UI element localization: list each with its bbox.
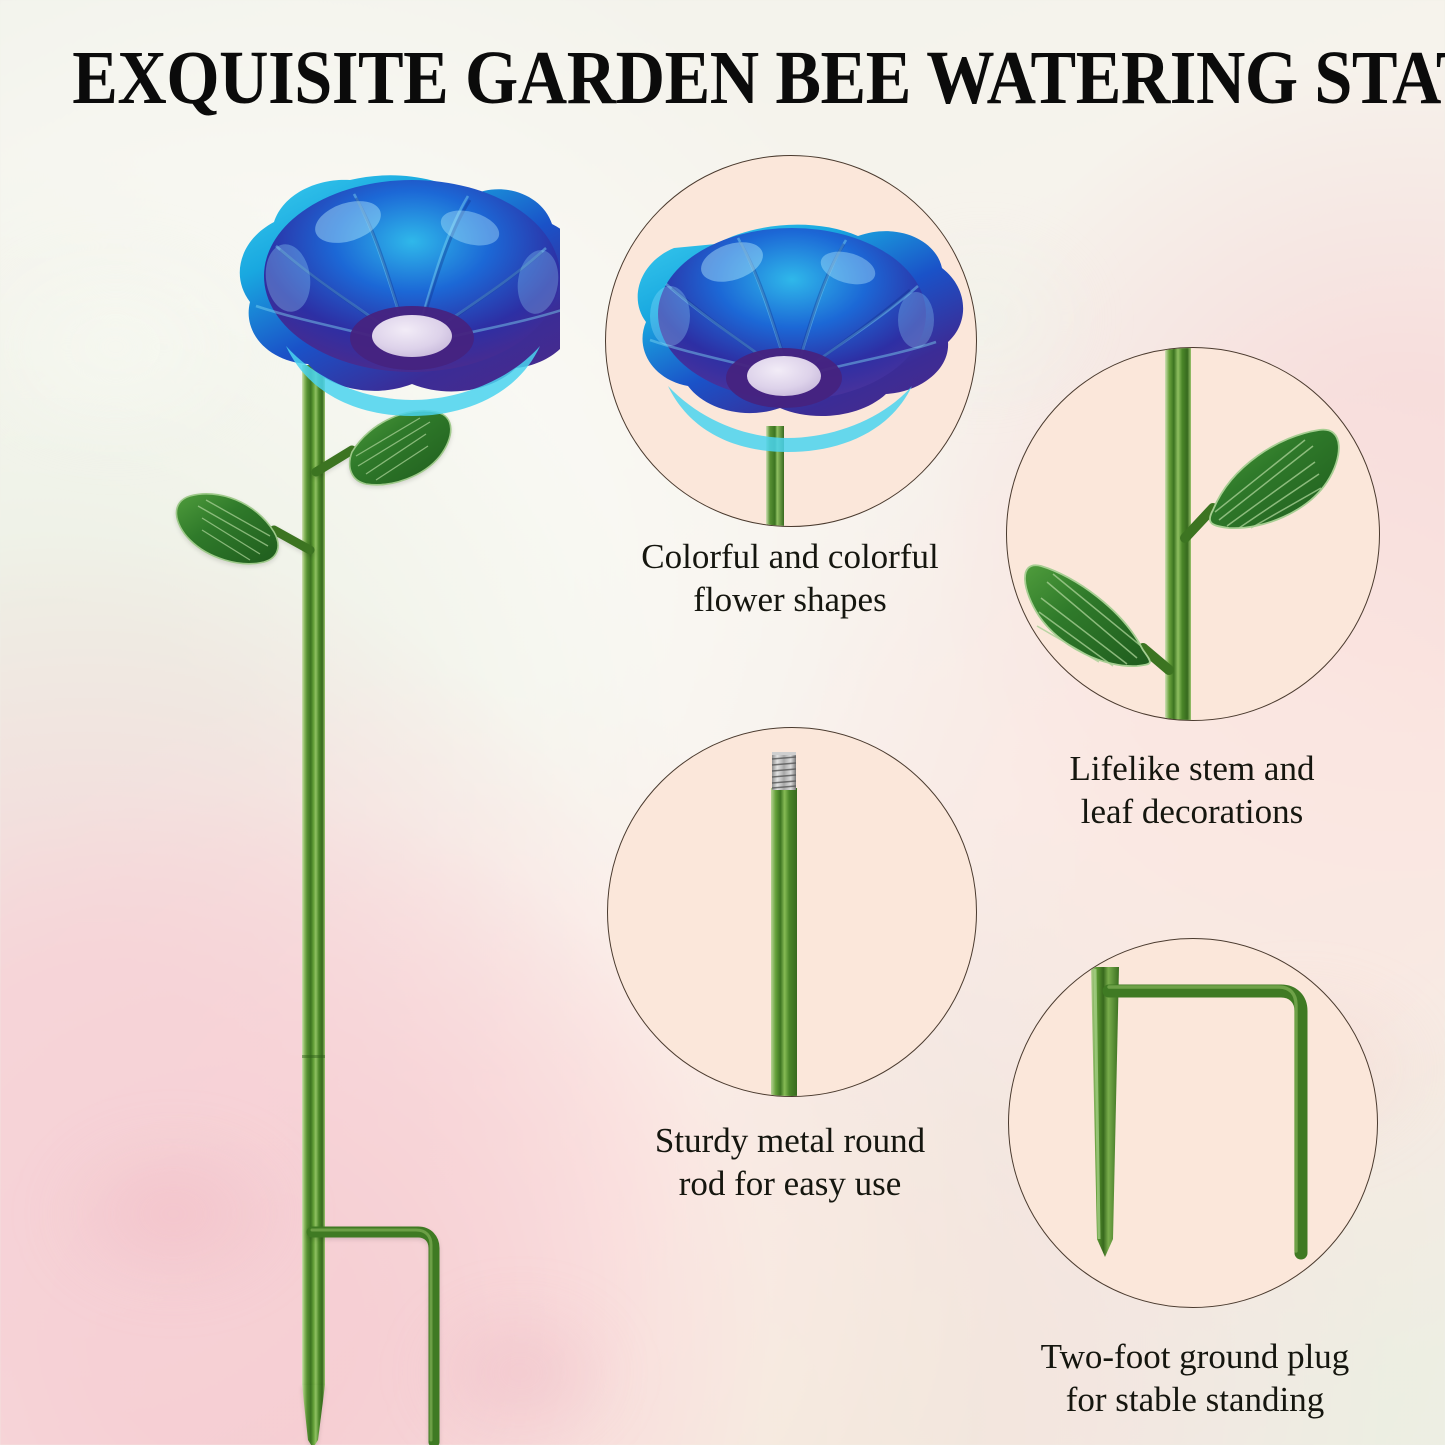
callout-center-disc	[747, 356, 821, 396]
infographic-canvas: EXQUISITE GARDEN BEE WATERING STATION	[0, 0, 1445, 1445]
caption-flower-bowl: Colorful and colorful flower shapes	[600, 536, 980, 621]
callout-rod-body	[771, 788, 797, 1096]
main-product-illustration	[140, 150, 560, 1445]
callout-metal-rod	[607, 727, 977, 1097]
callout-stem-leaf	[1006, 347, 1380, 721]
callout-leaf-upper	[1185, 430, 1339, 538]
stem-leaf-upper	[316, 411, 451, 485]
caption-ground-plug: Two-foot ground plug for stable standing	[995, 1336, 1395, 1421]
caption-stem-leaf: Lifelike stem and leaf decorations	[1002, 748, 1382, 833]
flower-bowl	[240, 175, 560, 416]
stem-leaf-lower	[176, 494, 310, 564]
callout-ground-plug	[1008, 938, 1378, 1308]
stake-crossbar-right-prong	[1109, 987, 1301, 1253]
caption-metal-rod: Sturdy metal round rod for easy use	[600, 1120, 980, 1205]
threaded-screw-tip	[772, 752, 796, 790]
callout-flower-bowl	[605, 155, 977, 527]
stake-prong-left	[1091, 967, 1119, 1257]
bowl-center-disc	[372, 315, 452, 357]
page-title: EXQUISITE GARDEN BEE WATERING STATION	[72, 40, 1373, 116]
callout-bowl	[638, 225, 963, 452]
